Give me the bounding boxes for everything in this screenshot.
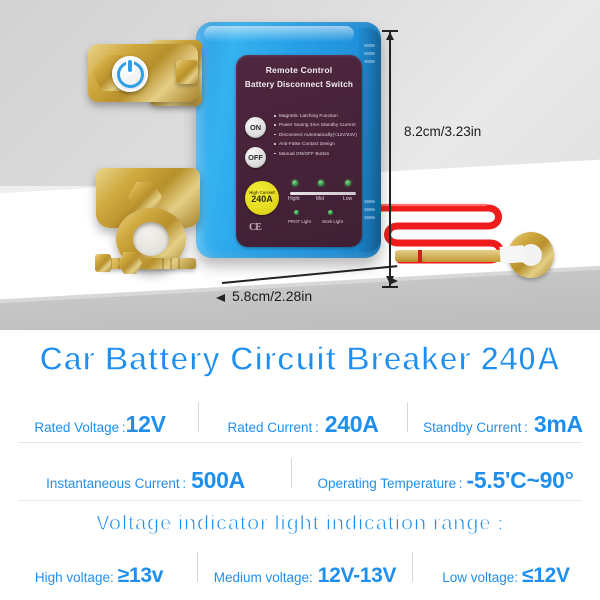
- height-dimension-line: [389, 30, 391, 288]
- clamp-bolt-head: [95, 254, 111, 272]
- feature-item: Anti-False Contact Design: [274, 141, 360, 146]
- feature-item: Power Saving 3mA Standby Current: [274, 122, 360, 127]
- spec-label: Operating Temperature :: [318, 476, 463, 491]
- height-arrow-up: [386, 32, 394, 40]
- spec-value: -5.5'C~90°: [467, 467, 574, 494]
- label-line-2: Battery Disconnect Switch: [236, 80, 362, 89]
- led-work: [328, 210, 333, 215]
- voltage-range-row: High voltage: ≥13v Medium voltage: 12V-1…: [0, 552, 600, 588]
- feature-item: Magnetic Latching Function: [274, 113, 360, 118]
- height-tick-bottom: [382, 286, 398, 288]
- feature-item: Disconnect Automatically(<12V/24V): [274, 132, 360, 137]
- width-arrow-right: [389, 277, 398, 285]
- spec-rated-voltage: Rated Voltage : 12V: [2, 411, 198, 438]
- spec-label: Low voltage:: [442, 570, 518, 585]
- spec-label: Medium voltage:: [214, 570, 313, 585]
- width-arrow-left: [216, 294, 225, 302]
- body-side-shade: [359, 28, 381, 252]
- led-prot: [294, 210, 299, 215]
- led-low: [345, 180, 351, 186]
- spec-value: 12V: [126, 411, 166, 438]
- spec-value: ≥13v: [118, 564, 163, 588]
- spec-instantaneous-current: Instantaneous Current : 500A: [1, 467, 291, 494]
- width-dimension-label: 5.8cm/2.28in: [232, 288, 312, 304]
- led-high: [292, 180, 298, 186]
- power-button[interactable]: [112, 56, 148, 92]
- clamp-bore: [133, 222, 169, 256]
- spec-value: 500A: [191, 467, 245, 494]
- spec-label: Rated Voltage :: [34, 420, 125, 435]
- product-photo: Remote Control Battery Disconnect Switch…: [0, 0, 600, 330]
- spec-row-primary: Rated Voltage : 12V Rated Current : 240A…: [0, 402, 600, 438]
- led-label-work: Work Light: [322, 219, 343, 224]
- product-infographic: Remote Control Battery Disconnect Switch…: [0, 0, 600, 600]
- ferrule-band: [418, 250, 422, 262]
- spec-standby-current: Standby Current : 3mA: [408, 411, 598, 438]
- spec-label: Standby Current :: [423, 420, 528, 435]
- spec-operating-temperature: Operating Temperature : -5.5'C~90°: [292, 467, 600, 494]
- label-line-1: Remote Control: [236, 65, 362, 75]
- clamp-bolt-shaft: [100, 258, 196, 269]
- badge-value: 240A: [251, 195, 273, 204]
- bolt-cap: [176, 60, 198, 84]
- on-button[interactable]: ON: [245, 117, 266, 138]
- power-icon-stem: [128, 60, 131, 72]
- spec-label: Rated Current :: [227, 420, 318, 435]
- led-label-mid: Mid: [316, 196, 324, 202]
- spec-label: High voltage:: [35, 570, 114, 585]
- spec-rated-current: Rated Current : 240A: [199, 411, 407, 438]
- voltage-medium: Medium voltage: 12V-13V: [198, 564, 412, 588]
- led-label-high: Hight: [288, 196, 300, 202]
- power-icon: [117, 61, 144, 88]
- spec-value: ≤12V: [522, 564, 570, 588]
- body-highlight: [204, 26, 354, 42]
- height-dimension-label: 8.2cm/3.23in: [404, 124, 481, 139]
- led-label-prot: PROT Light: [288, 219, 311, 224]
- voltage-high: High voltage: ≥13v: [1, 564, 197, 588]
- spec-value: 240A: [325, 411, 379, 438]
- section-title: Voltage indicator light indication range…: [0, 512, 600, 536]
- spec-value: 3mA: [534, 411, 583, 438]
- spec-label: Instantaneous Current :: [46, 476, 186, 491]
- spec-separator: [18, 500, 582, 501]
- led-scale-bar: [290, 192, 356, 195]
- lug-gap: [499, 245, 524, 264]
- disconnect-switch-body: Remote Control Battery Disconnect Switch…: [196, 22, 381, 258]
- off-button[interactable]: OFF: [245, 147, 266, 168]
- led-mid: [318, 180, 324, 186]
- page-title: Car Battery Circuit Breaker 240A: [0, 340, 600, 378]
- ce-mark: CE: [249, 222, 261, 233]
- voltage-low: Low voltage: ≤12V: [413, 564, 599, 588]
- high-current-badge: High Current 240A: [245, 181, 279, 215]
- label-panel: Remote Control Battery Disconnect Switch…: [236, 55, 362, 247]
- feature-list: Magnetic Latching Function Power Saving …: [274, 113, 360, 160]
- spec-value: 12V-13V: [318, 564, 396, 588]
- spec-separator: [18, 442, 582, 443]
- feature-item: Manual ON/OFF Button: [274, 151, 360, 156]
- led-label-low: Low: [343, 196, 352, 202]
- spec-row-secondary: Instantaneous Current : 500A Operating T…: [0, 458, 600, 494]
